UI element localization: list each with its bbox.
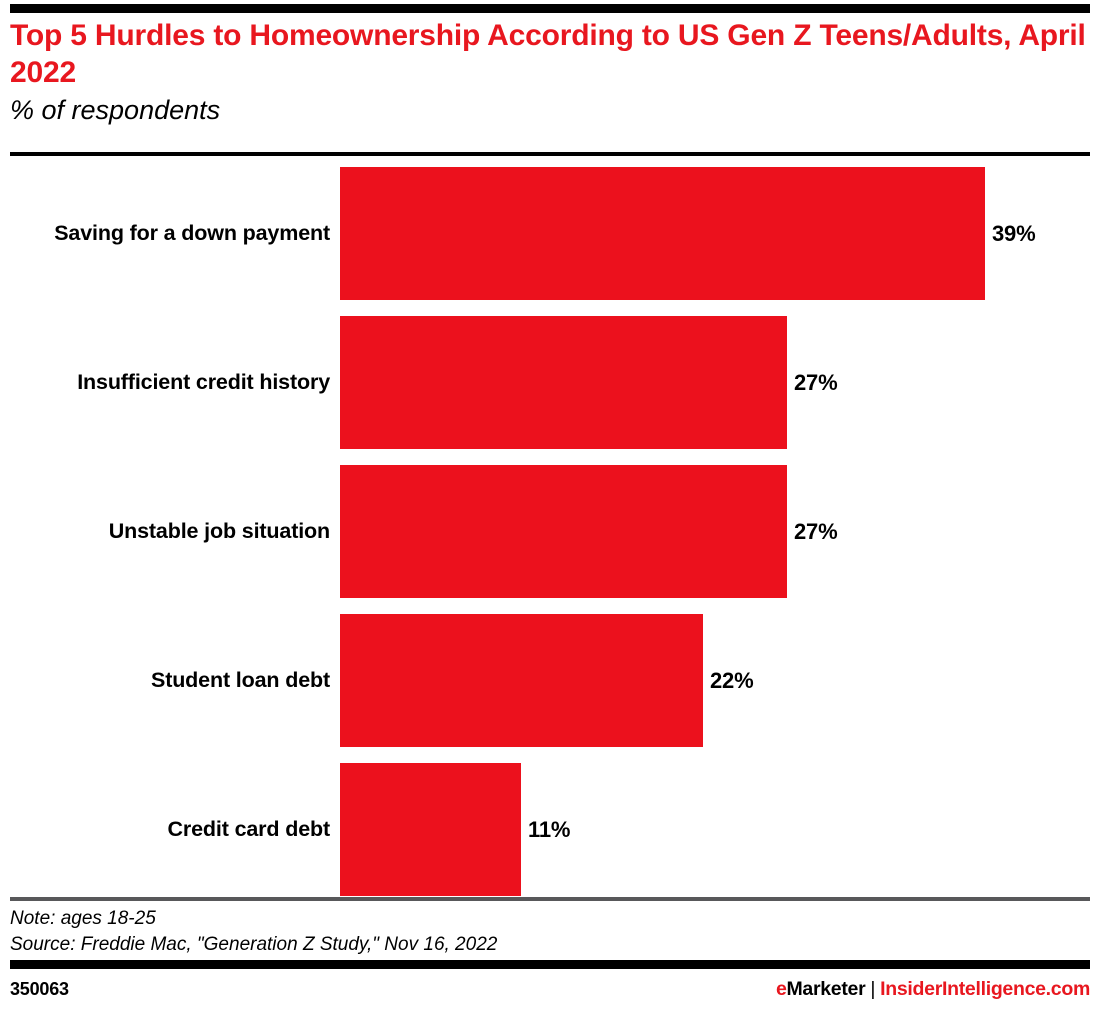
brand-lockup: eMarketer|InsiderIntelligence.com <box>776 978 1090 1001</box>
bar-track: 27% <box>340 316 1100 449</box>
footer-divider <box>10 897 1090 901</box>
bar-category-label: Saving for a down payment <box>0 221 340 246</box>
chart-credits: 350063 eMarketer|InsiderIntelligence.com <box>10 978 1090 1001</box>
bar-value-label: 11% <box>521 817 570 843</box>
bar-track: 39% <box>340 167 1100 300</box>
chart-id: 350063 <box>10 979 69 1000</box>
bar-chart: Saving for a down payment 39% Insufficie… <box>0 164 1100 886</box>
chart-page: Top 5 Hurdles to Homeownership According… <box>0 0 1100 1014</box>
bar-track: 22% <box>340 614 1100 747</box>
bar-fill[interactable] <box>340 465 787 598</box>
credits-divider <box>10 960 1090 969</box>
bar-category-label: Credit card debt <box>0 817 340 842</box>
brand-name: Marketer <box>786 978 865 1000</box>
bar-row: Credit card debt 11% <box>0 760 1100 909</box>
bar-category-label: Unstable job situation <box>0 519 340 544</box>
chart-subtitle: % of respondents <box>10 94 1090 126</box>
bar-fill[interactable] <box>340 763 521 896</box>
bar-value-label: 27% <box>787 370 837 396</box>
bar-category-label: Insufficient credit history <box>0 370 340 395</box>
brand-website[interactable]: InsiderIntelligence.com <box>880 978 1090 1000</box>
bar-row: Unstable job situation 27% <box>0 462 1100 611</box>
bar-row: Student loan debt 22% <box>0 611 1100 760</box>
brand-separator: | <box>865 978 880 1000</box>
bar-track: 27% <box>340 465 1100 598</box>
bar-value-label: 39% <box>985 221 1035 247</box>
bar-category-label: Student loan debt <box>0 668 340 693</box>
bar-fill[interactable] <box>340 167 985 300</box>
chart-header: Top 5 Hurdles to Homeownership According… <box>10 18 1090 127</box>
bar-row: Insufficient credit history 27% <box>0 313 1100 462</box>
bar-value-label: 22% <box>703 668 753 694</box>
brand-e: e <box>776 978 787 1000</box>
bar-track: 11% <box>340 763 1100 896</box>
source-line: Source: Freddie Mac, "Generation Z Study… <box>10 932 1090 958</box>
bar-fill[interactable] <box>340 316 787 449</box>
bar-value-label: 27% <box>787 519 837 545</box>
chart-title: Top 5 Hurdles to Homeownership According… <box>10 18 1090 91</box>
header-divider <box>10 152 1090 156</box>
chart-notes: Note: ages 18-25 Source: Freddie Mac, "G… <box>10 906 1090 958</box>
top-divider <box>10 4 1090 13</box>
bar-row: Saving for a down payment 39% <box>0 164 1100 313</box>
note-line: Note: ages 18-25 <box>10 906 1090 932</box>
bar-fill[interactable] <box>340 614 703 747</box>
